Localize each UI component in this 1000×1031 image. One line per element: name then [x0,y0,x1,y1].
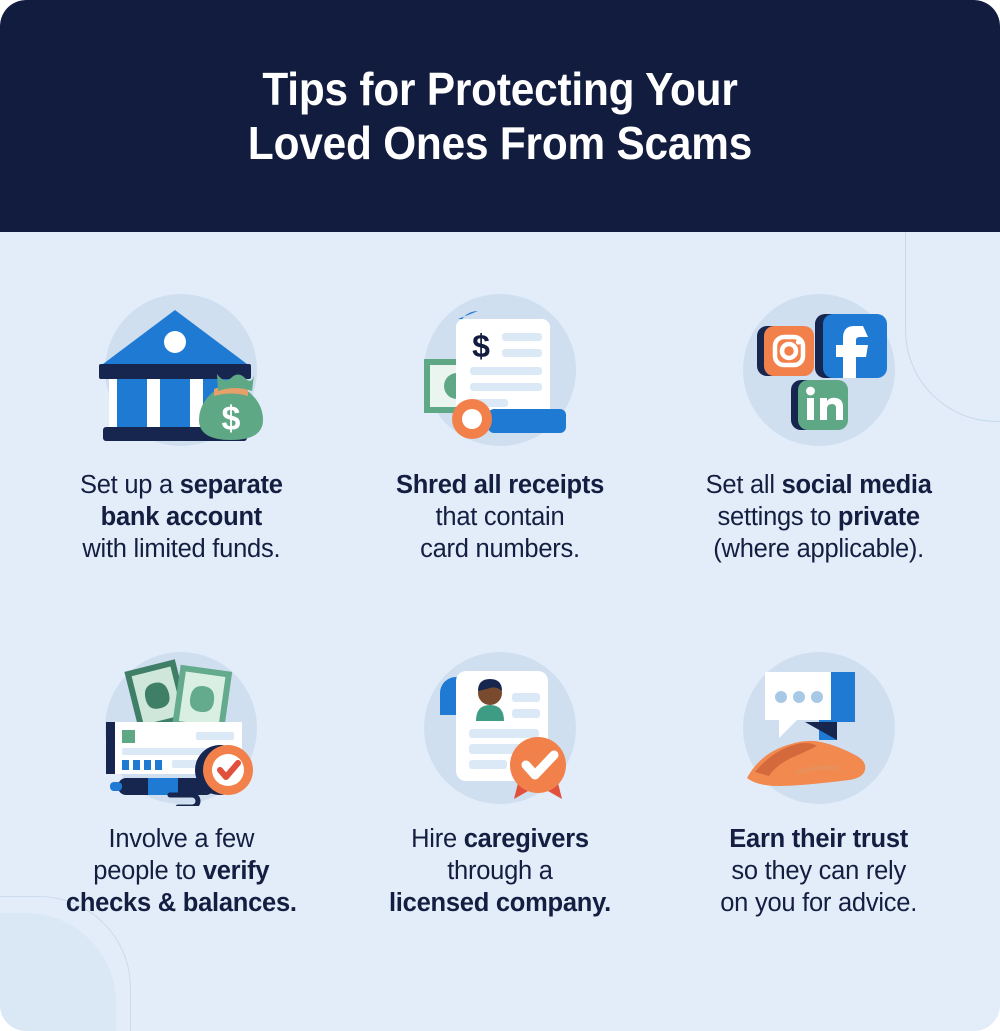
hand-speech-glyph [733,650,905,806]
social-media-glyph [733,294,905,446]
caption-bold: separate [180,471,283,499]
check-pen-verified-glyph [92,650,270,806]
caption-bold: verify [203,857,270,885]
caption-bold: checks & balances. [66,889,297,917]
tip-caption: Hire caregivers through a licensed compa… [350,823,650,919]
instagram-icon [764,326,814,376]
caption-bold: Shred all receipts [396,471,604,499]
check-pen-verified-icon [88,635,274,821]
social-media-icons [726,277,912,463]
caption-text: Hire [411,825,464,853]
page-title: Tips for Protecting Your Loved Ones From… [248,62,752,171]
svg-text:$: $ [472,328,490,364]
caption-bold: caregivers [464,825,589,853]
tips-body: $ Set up a separate bank account with li… [0,232,1000,1031]
caption-text: Set up a [80,471,180,499]
caption-text: (where applicable). [713,535,924,563]
receipt-dollar-glyph: $ [414,291,586,449]
caption-bold: bank account [101,503,262,531]
svg-text:$: $ [222,400,241,438]
bank-money-bag-glyph: $ [95,294,267,446]
tip-card-trust: Earn their trust so they can rely on you… [659,635,978,993]
tip-caption: Set all social media settings to private… [669,469,969,565]
tip-card-receipt: $ Shred all receipts [341,277,660,635]
tip-caption: Shred all receipts that contain card num… [350,469,650,565]
caption-text: people to [93,857,203,885]
tip-caption: Involve a few people to verify checks & … [31,823,331,919]
caption-bold: Earn their trust [729,825,908,853]
caption-text: card numbers. [420,535,580,563]
tip-caption: Earn their trust so they can rely on you… [669,823,969,919]
caption-text: Involve a few [109,825,255,853]
certified-caregiver-icon [407,635,593,821]
caption-bold: private [838,503,920,531]
tip-card-bank: $ Set up a separate bank account with li… [22,277,341,635]
bank-money-bag-icon: $ [88,277,274,463]
caption-text: through a [447,857,553,885]
certified-caregiver-glyph [414,649,586,807]
tips-grid: $ Set up a separate bank account with li… [0,232,1000,993]
infographic-card: Tips for Protecting Your Loved Ones From… [0,0,1000,1031]
tip-caption: Set up a separate bank account with limi… [31,469,331,565]
receipt-dollar-icon: $ [407,277,593,463]
header-banner: Tips for Protecting Your Loved Ones From… [0,0,1000,232]
tip-card-caregiver: Hire caregivers through a licensed compa… [341,635,660,993]
caption-text: Set all [706,471,782,499]
caption-text: that contain [436,503,565,531]
caption-bold: licensed company. [389,889,611,917]
tip-card-checks: Involve a few people to verify checks & … [22,635,341,993]
caption-bold: social media [782,471,932,499]
hand-speech-bubble-icon [726,635,912,821]
tip-card-social: Set all social media settings to private… [659,277,978,635]
caption-text: on you for advice. [720,889,917,917]
caption-text: settings to [718,503,838,531]
caption-text: so they can rely [731,857,906,885]
caption-text: with limited funds. [82,535,280,563]
